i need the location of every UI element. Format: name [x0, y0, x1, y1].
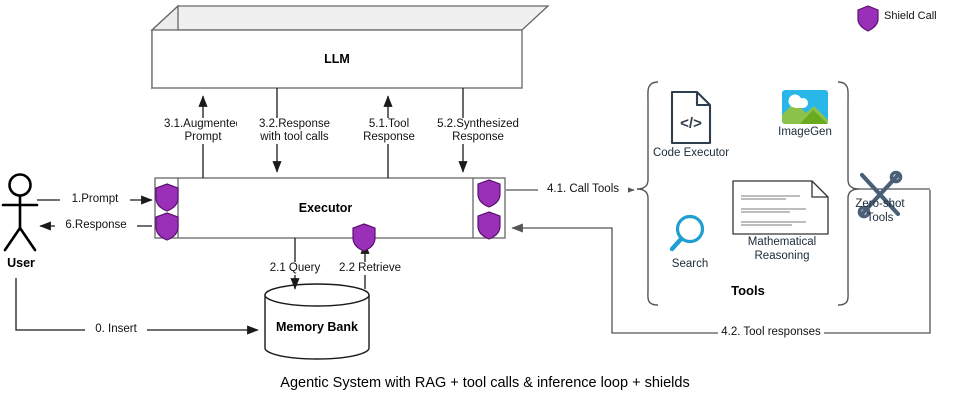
- magnifier-icon[interactable]: [672, 217, 703, 250]
- tool-label-imagegen: ImageGen: [760, 126, 850, 140]
- legend-label: Shield Call: [884, 10, 937, 22]
- tool-label-math-reasoning: Mathematical Reasoning: [736, 236, 828, 263]
- shield-icon[interactable]: [353, 224, 375, 251]
- edge-label-response: 6.Response: [55, 219, 137, 232]
- memory-bank-label: Memory Bank: [255, 320, 379, 334]
- shield-icon[interactable]: [478, 212, 500, 239]
- diagram-canvas: </>: [0, 0, 970, 411]
- image-picture-icon[interactable]: [782, 90, 828, 124]
- llm-node[interactable]: [152, 6, 548, 88]
- user-actor[interactable]: [3, 175, 37, 251]
- edge-label-response-tool-calls: 3.2.Response with tool calls: [237, 118, 352, 144]
- code-document-icon[interactable]: </>: [672, 92, 710, 143]
- shield-icon[interactable]: [156, 213, 178, 240]
- diagram-caption: Agentic System with RAG + tool calls & i…: [0, 375, 970, 391]
- legend-shield-icon: [858, 6, 878, 31]
- svg-text:</>: </>: [680, 115, 702, 132]
- tool-label-search: Search: [650, 258, 730, 272]
- formula-document-icon[interactable]: [733, 181, 828, 234]
- edge-label-insert: 0. Insert: [85, 323, 147, 336]
- user-label: User: [0, 256, 42, 270]
- edge-label-tool-responses: 4.2. Tool responses: [718, 326, 824, 339]
- edge-label-retrieve: 2.2 Retrieve: [334, 262, 406, 275]
- edge-label-query: 2.1 Query: [263, 262, 327, 275]
- edge-label-synthesized-response: 5.2.Synthesized Response: [423, 118, 533, 144]
- shield-icon[interactable]: [156, 184, 178, 211]
- tools-left-brace: [637, 82, 658, 305]
- tool-label-zero-shot-tools: Zero-shot Tools: [843, 198, 917, 225]
- llm-label: LLM: [152, 52, 522, 66]
- tools-right-brace: [838, 82, 859, 305]
- shield-icon[interactable]: [478, 180, 500, 207]
- edge-label-tool-response: 5.1.Tool Response: [346, 118, 432, 144]
- edge-label-prompt: 1.Prompt: [60, 193, 130, 206]
- tool-label-code-executor: Code Executor: [645, 147, 737, 161]
- executor-label: Executor: [178, 201, 473, 215]
- tools-group-label: Tools: [698, 283, 798, 298]
- edge-label-call-tools: 4.1. Call Tools: [538, 183, 628, 196]
